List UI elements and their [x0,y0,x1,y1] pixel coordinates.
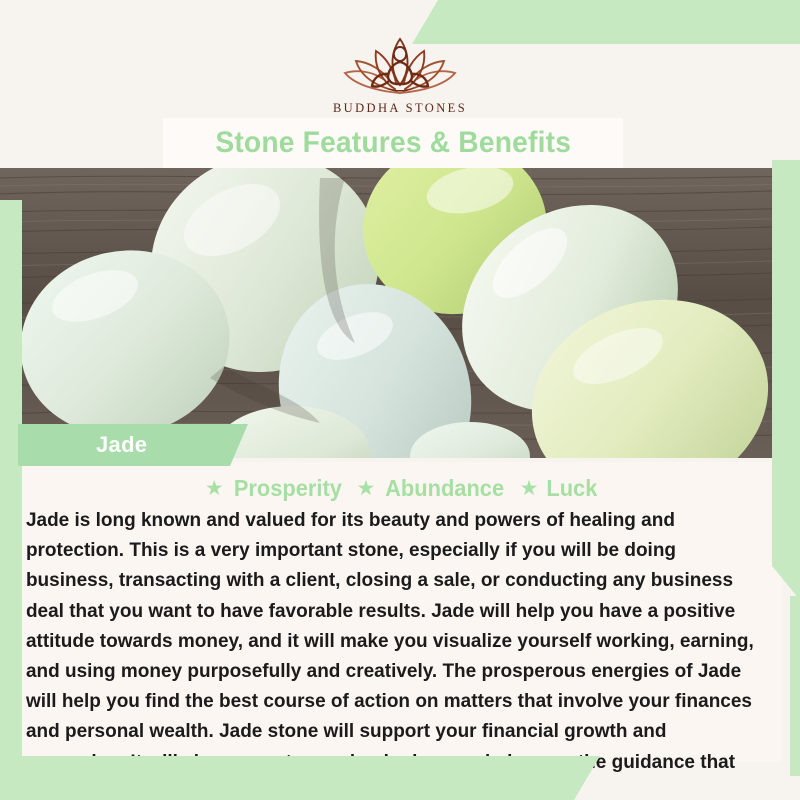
star-icon: ★ [520,478,539,499]
stone-photo [0,168,800,458]
page-title: Stone Features & Benefits [215,126,571,160]
keyword-label: Prosperity [234,475,342,502]
green-strip-right [772,160,800,600]
infographic-page: BUDDHA STONES Stone Features & Benefits [0,0,800,800]
brand-header: BUDDHA STONES [0,0,800,122]
content-card: ★ Prosperity ★ Abundance ★ Luck Jade is … [22,462,782,762]
green-band-bottom-left [0,756,600,800]
star-icon: ★ [357,478,376,499]
stone-description: Jade is long known and valued for its be… [22,506,767,800]
lotus-meditation-icon [325,29,475,97]
stone-name: Jade [96,432,147,458]
green-strip-right-lower [790,596,800,776]
keyword-label: Abundance [385,475,504,502]
logo: BUDDHA STONES [325,29,475,116]
green-strip-left [0,200,22,780]
stone-name-banner: Jade [18,424,248,466]
keyword-item: ★ Luck [520,475,600,502]
keyword-item: ★ Abundance [357,475,508,502]
keyword-item: ★ Prosperity [205,475,345,502]
keyword-label: Luck [547,475,598,502]
star-icon: ★ [205,478,224,499]
title-banner: Stone Features & Benefits [163,118,623,168]
brand-name: BUDDHA STONES [333,101,467,116]
keyword-list: ★ Prosperity ★ Abundance ★ Luck [22,472,782,504]
